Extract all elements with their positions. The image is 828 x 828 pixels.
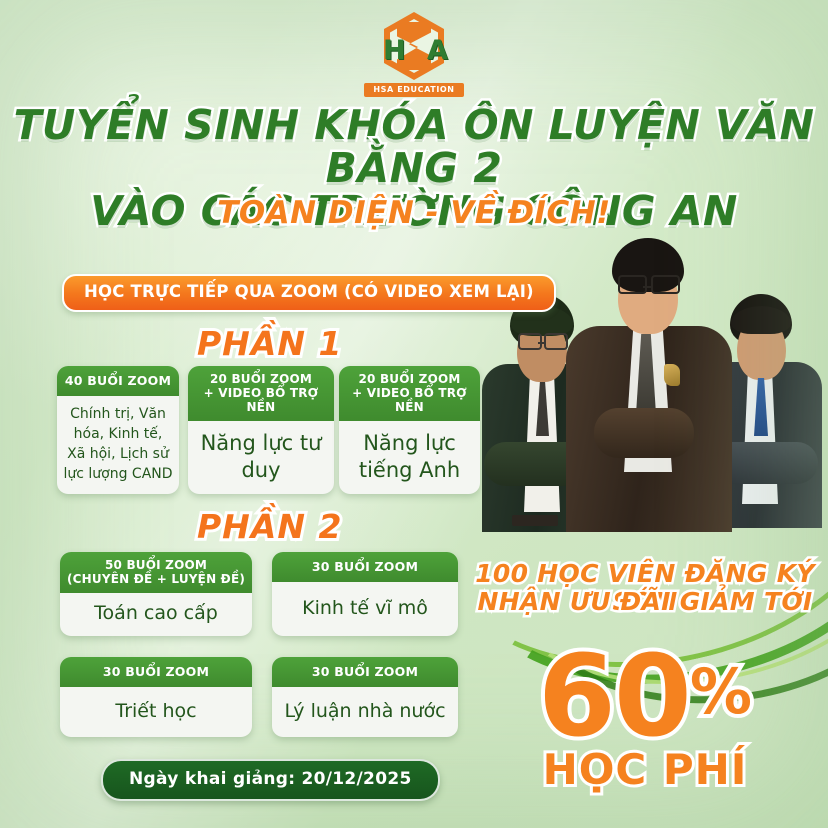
discount-number: 60 xyxy=(538,632,690,762)
course-card-triet-hoc[interactable]: 30 BUỔI ZOOM Triết học xyxy=(60,657,252,737)
brand-tagline: HSA EDUCATION xyxy=(364,83,463,97)
discount-percent: 60% xyxy=(462,636,828,753)
card-header-sessions: 30 BUỔI ZOOM xyxy=(272,552,458,582)
card-body-subject: Toán cao cấp xyxy=(60,593,252,636)
course-card-toan-cao-cap[interactable]: 50 BUỔI ZOOM (CHUYÊN ĐỀ + LUYỆN ĐỀ) Toán… xyxy=(60,552,252,636)
card-header-sessions: 40 BUỔI ZOOM xyxy=(57,366,179,396)
headline-subtitle: TOÀN DIỆN - VỀ ĐÍCH! xyxy=(0,196,828,230)
course-card-ly-luan-nha-nuoc[interactable]: 30 BUỔI ZOOM Lý luận nhà nước xyxy=(272,657,458,737)
card-header-line-2: + VIDEO BỔ TRỢ NỀN xyxy=(343,386,476,414)
card-body-subject: Năng lực tư duy xyxy=(188,421,334,494)
card-header-sessions: 30 BUỔI ZOOM xyxy=(272,657,458,687)
card-body-subject: Năng lực tiếng Anh xyxy=(339,421,480,494)
eyeglasses-right-lens xyxy=(651,275,680,294)
section-title-part-1: PHẦN 1 xyxy=(197,327,342,360)
card-body-subject: Kinh tế vĩ mô xyxy=(272,582,458,636)
logo-letter-h: H xyxy=(383,36,405,66)
course-card-chinh-tri[interactable]: 40 BUỔI ZOOM Chính trị, Văn hóa, Kinh tế… xyxy=(57,366,179,494)
card-header-sessions: 20 BUỔI ZOOM + VIDEO BỔ TRỢ NỀN xyxy=(188,366,334,421)
brand-logo: H A HSA EDUCATION xyxy=(0,12,828,97)
headline-line-1: TUYỂN SINH KHÓA ÔN LUYỆN VĂN BẰNG 2 xyxy=(14,101,815,192)
card-header-line-1: 20 BUỔI ZOOM xyxy=(343,372,476,386)
eyeglasses-left-lens xyxy=(618,275,647,294)
lapel-pin-icon xyxy=(664,364,680,386)
card-header-line-2: (CHUYÊN ĐỀ + LUYỆN ĐỀ) xyxy=(64,572,248,586)
promo-poster: H A HSA EDUCATION TUYỂN SINH KHÓA ÔN LUY… xyxy=(0,0,828,828)
card-header-sessions: 30 BUỔI ZOOM xyxy=(60,657,252,687)
folded-arm xyxy=(594,408,694,458)
belt xyxy=(512,515,558,526)
eyeglasses-right-lens xyxy=(544,333,568,350)
course-card-nang-luc-tieng-anh[interactable]: 20 BUỔI ZOOM + VIDEO BỔ TRỢ NỀN Năng lực… xyxy=(339,366,480,494)
hsa-hexagon-logo-icon: H A xyxy=(375,12,453,80)
discount-caption: HỌC PHÍ xyxy=(462,748,828,792)
course-card-nang-luc-tu-duy[interactable]: 20 BUỔI ZOOM + VIDEO BỔ TRỢ NỀN Năng lực… xyxy=(188,366,334,494)
card-body-subject: Lý luận nhà nước xyxy=(272,687,458,737)
card-header-sessions: 50 BUỔI ZOOM (CHUYÊN ĐỀ + LUYỆN ĐỀ) xyxy=(60,552,252,593)
promo-line-2: NHẬN ƯU ĐÃI GIẢM TỚI xyxy=(462,588,828,616)
course-card-kinh-te-vi-mo[interactable]: 30 BUỔI ZOOM Kinh tế vĩ mô xyxy=(272,552,458,636)
eyeglasses-bridge xyxy=(538,342,544,344)
eyeglasses-bridge xyxy=(643,286,651,288)
card-header-line-1: 20 BUỔI ZOOM xyxy=(192,372,330,386)
card-body-subject: Chính trị, Văn hóa, Kinh tế, Xã hội, Lịc… xyxy=(57,396,179,494)
hair-front xyxy=(731,306,791,334)
teacher-center xyxy=(566,232,732,532)
start-date-badge[interactable]: Ngày khai giảng: 20/12/2025 xyxy=(101,759,440,801)
card-header-line-1: 50 BUỔI ZOOM xyxy=(64,558,248,572)
card-header-sessions: 20 BUỔI ZOOM + VIDEO BỔ TRỢ NỀN xyxy=(339,366,480,421)
card-body-subject: Triết học xyxy=(60,687,252,737)
card-header-line-2: + VIDEO BỔ TRỢ NỀN xyxy=(192,386,330,414)
percent-symbol: % xyxy=(690,655,752,728)
section-title-part-2: PHẦN 2 xyxy=(197,510,342,543)
logo-letter-a: A xyxy=(427,36,449,66)
zoom-format-badge[interactable]: HỌC TRỰC TIẾP QUA ZOOM (CÓ VIDEO XEM LẠI… xyxy=(62,274,556,312)
